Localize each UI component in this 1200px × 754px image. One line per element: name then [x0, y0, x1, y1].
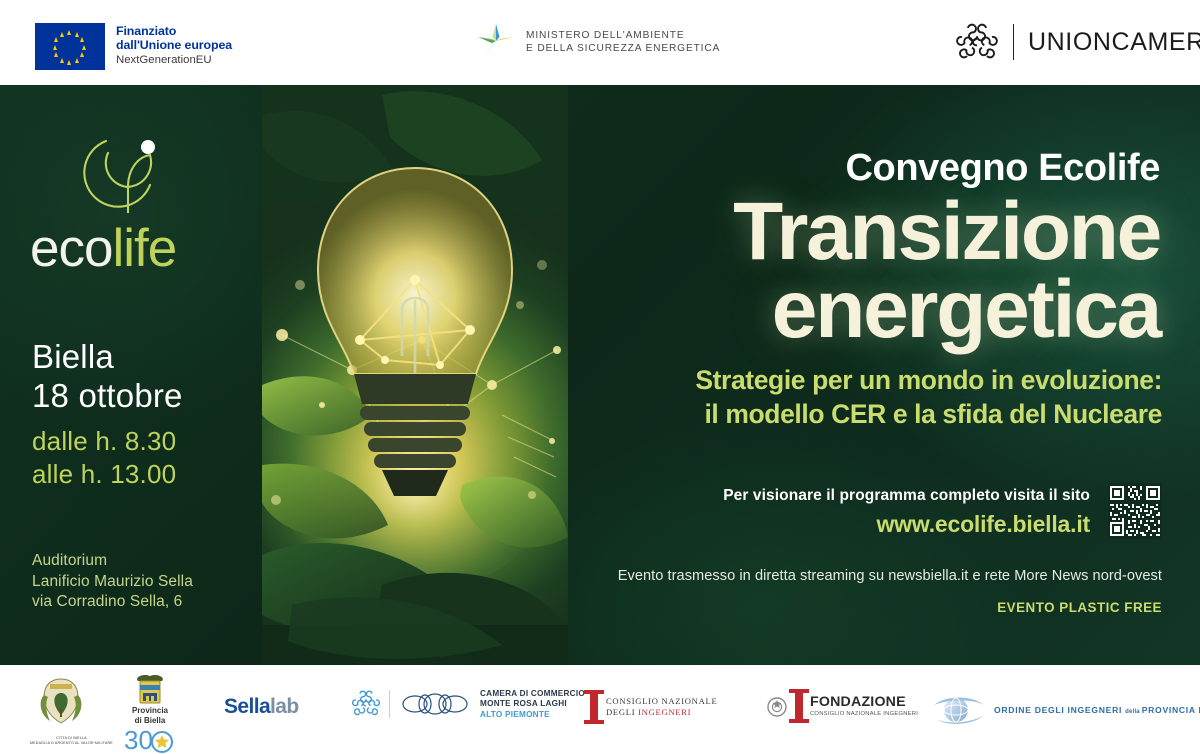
- venue-line2: Lanificio Maurizio Sella: [32, 572, 193, 593]
- five-point-star-multicolor-icon: [476, 22, 516, 62]
- event-headline: Transizione energetica: [733, 193, 1160, 349]
- promo-website-url[interactable]: www.ecolife.biella.it: [723, 509, 1090, 539]
- sponsor-header-bar: Finanziato dall'Unione europea NextGener…: [0, 0, 1200, 85]
- fondazione-i-bar-mark-icon: [795, 689, 803, 723]
- fondazione-cni-logo: FONDAZIONE CONSIGLIO NAZIONALE INGEGNERI: [795, 689, 918, 723]
- eu-stars-ring: [35, 23, 105, 70]
- camera-commercio-text: CAMERA DI COMMERCIO MONTE ROSA LAGHI ALT…: [480, 689, 585, 720]
- ecolife-word-life: life: [112, 219, 176, 278]
- comune-di-biella-logo: CITTA DI BIELLA MEDAGLIA D'ARGENTO AL VA…: [30, 675, 113, 745]
- ministry-line1: MINISTERO DELL'AMBIENTE: [526, 29, 720, 42]
- partner-footer-bar: CITTA DI BIELLA MEDAGLIA D'ARGENTO AL VA…: [0, 665, 1200, 754]
- provincia-30th-anniversary-icon: 30: [122, 725, 178, 753]
- lightbulb-icon: [290, 160, 540, 520]
- event-time-to: alle h. 13.00: [32, 458, 176, 491]
- ministry-line2: E DELLA SICUREZZA ENERGETICA: [526, 42, 720, 55]
- right-title-column: Convegno Ecolife Transizione energetica …: [568, 85, 1200, 665]
- ecolife-wordmark: ecolife: [30, 222, 220, 275]
- unioncamere-logo: UNIONCAMERE: [955, 20, 1200, 64]
- eu-flag-icon: [35, 23, 105, 70]
- event-city: Biella: [32, 337, 183, 376]
- subheadline-line-1: Strategie per un mondo in evoluzione:: [695, 363, 1162, 397]
- sellalab-word-sella: Sella: [224, 695, 270, 718]
- ordine-text: ORDINE DEGLI INGEGNERI della PROVINCIA D…: [994, 705, 1200, 715]
- eu-funding-logo: Finanziato dall'Unione europea NextGener…: [35, 23, 232, 70]
- sellalab-logo: Sellalab: [224, 695, 299, 719]
- ecolife-leaf-sprout-mark-icon: [76, 135, 186, 213]
- cni-text: CONSIGLIO NAZIONALE DEGLI INGEGNERI: [606, 696, 717, 719]
- camera-di-commercio-logo: CAMERA DI COMMERCIO MONTE ROSA LAGHI ALT…: [352, 689, 585, 720]
- consiglio-nazionale-ingegneri-logo: CONSIGLIO NAZIONALE DEGLI INGEGNERI: [590, 690, 789, 724]
- unioncamere-divider: [1013, 24, 1014, 60]
- plastic-free-badge: EVENTO PLASTIC FREE: [997, 600, 1162, 615]
- subheadline-line-2: il modello CER e la sfida del Nucleare: [695, 397, 1162, 431]
- event-kicker: Convegno Ecolife: [845, 147, 1160, 190]
- cni-i-bar-mark-icon: [590, 690, 598, 724]
- qr-code-icon[interactable]: [1108, 483, 1162, 539]
- ordine-ingegneri-biella-logo: ORDINE DEGLI INGEGNERI della PROVINCIA D…: [930, 693, 1200, 727]
- ordine-ingegneri-globe-swoosh-icon: [930, 693, 988, 727]
- headline-line-1: Transizione: [733, 193, 1160, 271]
- unioncamere-name: UNIONCAMERE: [1028, 28, 1200, 57]
- eu-logo-line3: NextGenerationEU: [116, 53, 232, 68]
- left-info-column: ecolife Biella 18 ottobre dalle h. 8.30 …: [0, 85, 262, 665]
- ecolife-word-eco: eco: [30, 219, 112, 278]
- poster-main-area: ecolife Biella 18 ottobre dalle h. 8.30 …: [0, 85, 1200, 665]
- camera-commercio-rings-mark-icon: [399, 690, 471, 718]
- ministry-logo: MINISTERO DELL'AMBIENTE E DELLA SICUREZZ…: [476, 22, 720, 62]
- sellalab-word-lab: lab: [270, 695, 299, 718]
- svg-text:30: 30: [124, 725, 153, 753]
- event-subheadline: Strategie per un mondo in evoluzione: il…: [695, 363, 1162, 431]
- provincia-caption: Provincia di Biella: [132, 706, 168, 725]
- lightbulb-photo: [262, 85, 568, 665]
- streaming-info: Evento trasmesso in diretta streaming su…: [618, 568, 1162, 584]
- unioncamere-swirl-mark-icon: [955, 20, 999, 64]
- provincia-di-biella-crest-icon: [130, 671, 170, 705]
- comune-di-biella-coat-of-arms-icon: [30, 675, 92, 729]
- poster-root: Finanziato dall'Unione europea NextGener…: [0, 0, 1200, 754]
- eu-logo-line2: dall'Unione europea: [116, 38, 232, 52]
- repubblica-italiana-emblem-icon: [765, 694, 789, 720]
- event-venue: Auditorium Lanificio Maurizio Sella via …: [32, 551, 193, 613]
- unioncamere-small-swirl-icon: [352, 689, 380, 719]
- event-time-range: dalle h. 8.30 alle h. 13.00: [32, 425, 176, 491]
- program-promo-block: Per visionare il programma completo visi…: [602, 483, 1162, 539]
- eu-logo-line1: Finanziato: [116, 24, 232, 38]
- provincia-di-biella-logo: Provincia di Biella 30: [122, 671, 178, 753]
- event-location-date: Biella 18 ottobre: [32, 337, 183, 415]
- promo-instruction: Per visionare il programma completo visi…: [723, 483, 1090, 509]
- event-time-from: dalle h. 8.30: [32, 425, 176, 458]
- event-date: 18 ottobre: [32, 376, 183, 415]
- venue-line1: Auditorium: [32, 551, 193, 572]
- ecolife-brand-logo: ecolife: [30, 135, 220, 275]
- comune-caption: CITTA DI BIELLA MEDAGLIA D'ARGENTO AL VA…: [30, 736, 113, 745]
- fondazione-text: FONDAZIONE CONSIGLIO NAZIONALE INGEGNERI: [810, 695, 918, 718]
- headline-line-2: energetica: [733, 271, 1160, 349]
- venue-line3: via Corradino Sella, 6: [32, 592, 193, 613]
